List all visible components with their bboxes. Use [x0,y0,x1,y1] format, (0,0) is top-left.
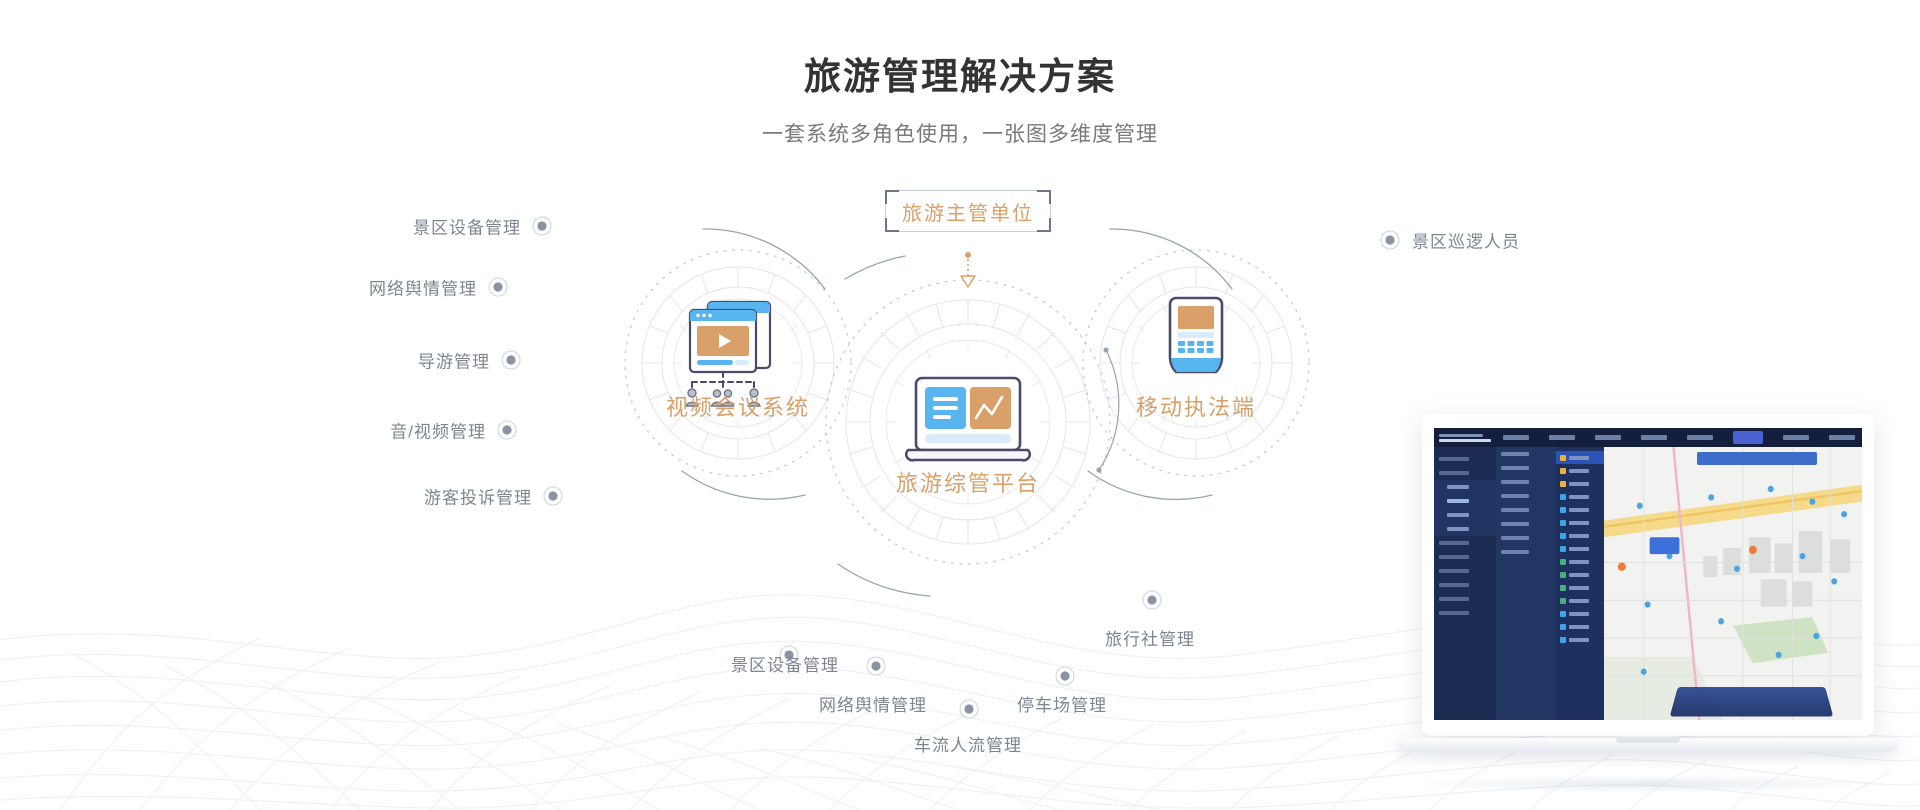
app-layer-item[interactable] [1556,581,1604,594]
app-sidebar [1434,447,1496,720]
app-nav-tab[interactable] [1687,435,1713,440]
app-top-nav [1434,428,1862,447]
laptop-screen [1434,428,1862,720]
bottom-connectors [780,515,1161,718]
app-nav-tab[interactable] [1829,435,1855,440]
left-label-0: 景区设备管理 [413,214,521,239]
app-sidebar-item[interactable] [1434,592,1496,606]
app-region-tree [1496,447,1556,720]
page-root: 旅游管理解决方案 一套系统多角色使用，一张图多维度管理 [0,0,1920,810]
app-tree-node[interactable] [1496,531,1556,545]
link-arc-center-right [1099,350,1119,470]
bracket-arc-center-bottom [838,564,930,596]
link-dot-top [1103,347,1108,352]
app-layer-item[interactable] [1556,568,1604,581]
map-toolbar[interactable] [1697,452,1817,465]
bracket-arc-left-top [703,229,825,289]
app-layer-item[interactable] [1556,516,1604,529]
map-graphics [1604,447,1862,720]
node-label-tourism-platform: 旅游综管平台 [896,466,1040,498]
app-nav-tab[interactable] [1641,435,1667,440]
app-tree-node[interactable] [1496,475,1556,489]
app-body [1434,447,1862,720]
app-layer-item[interactable] [1556,594,1604,607]
dashboard-app [1434,428,1862,720]
authority-box: 旅游主管单位 [885,190,1051,232]
page-subtitle: 一套系统多角色使用，一张图多维度管理 [0,100,1920,148]
app-tree-node[interactable] [1496,503,1556,517]
app-layer-item[interactable] [1556,490,1604,503]
left-label-3: 音/视频管理 [390,418,486,443]
app-layer-item[interactable] [1556,542,1604,555]
app-layer-item[interactable] [1556,555,1604,568]
app-logo [1434,428,1491,447]
handheld-terminal-icon [1170,298,1222,372]
left-label-4: 游客投诉管理 [424,484,532,509]
app-layer-item[interactable] [1556,464,1604,477]
app-sidebar-subitem[interactable] [1434,508,1496,522]
app-layer-item[interactable] [1556,633,1604,646]
bracket-arc-right-top [1110,229,1232,289]
laptop-mockup [1398,414,1898,784]
left-connector-dots [489,217,562,505]
app-sidebar-item[interactable] [1434,564,1496,578]
authority-box-label: 旅游主管单位 [902,197,1034,226]
bottom-label-3: 停车场管理 [1017,691,1107,716]
app-layer-item[interactable] [1556,620,1604,633]
app-sidebar-item[interactable] [1434,452,1496,466]
left-label-1: 网络舆情管理 [369,275,477,300]
page-title: 旅游管理解决方案 [0,0,1920,100]
app-tree-node[interactable] [1496,517,1556,531]
laptop-lid [1422,414,1874,736]
laptop-dashboard-icon [906,378,1030,460]
app-sidebar-item[interactable] [1434,606,1496,620]
app-sidebar-item[interactable] [1434,578,1496,592]
bottom-label-4: 旅行社管理 [1105,625,1195,650]
app-nav-tab[interactable] [1783,435,1809,440]
app-tree-node[interactable] [1496,489,1556,503]
left-label-2: 导游管理 [418,348,490,373]
node-label-video-conference: 视频会议系统 [666,390,810,422]
map-dock[interactable] [1669,687,1832,716]
app-sidebar-subitem[interactable] [1434,480,1496,494]
right-connectors [1300,231,1399,249]
header: 旅游管理解决方案 一套系统多角色使用，一张图多维度管理 [0,0,1920,148]
app-layer-item[interactable] [1556,477,1604,490]
app-nav-tab[interactable] [1549,435,1575,440]
link-dot-bottom [1096,467,1101,472]
app-sidebar-item[interactable] [1434,466,1496,480]
bracket-arc-center-top [845,256,905,279]
app-tree-node[interactable] [1496,545,1556,559]
laptop-notch [1616,738,1680,743]
app-layer-item-active[interactable] [1556,451,1604,464]
app-sidebar-subitem-active[interactable] [1434,494,1496,508]
app-sidebar-item[interactable] [1434,550,1496,564]
app-layer-item[interactable] [1556,529,1604,542]
app-tree-node[interactable] [1496,447,1556,461]
bottom-label-0: 景区设备管理 [731,651,839,676]
bracket-arc-right-bottom [1088,471,1212,499]
app-sidebar-subitem[interactable] [1434,522,1496,536]
right-label-0: 景区巡逻人员 [1412,228,1520,253]
app-layer-item[interactable] [1556,607,1604,620]
app-nav-tab[interactable] [1503,435,1529,440]
app-nav-tab[interactable] [1595,435,1621,440]
authority-connector [961,252,975,287]
app-layer-item[interactable] [1556,503,1604,516]
bottom-label-1: 网络舆情管理 [819,691,927,716]
app-nav-tab-active[interactable] [1733,431,1763,444]
app-nav-tabs [1491,431,1862,444]
node-label-mobile-enforcement: 移动执法端 [1136,390,1256,422]
app-sidebar-item[interactable] [1434,536,1496,550]
app-map-canvas[interactable] [1604,447,1862,720]
app-tree-node[interactable] [1496,461,1556,475]
app-layer-list [1556,447,1604,720]
bottom-label-2: 车流人流管理 [914,731,1022,756]
